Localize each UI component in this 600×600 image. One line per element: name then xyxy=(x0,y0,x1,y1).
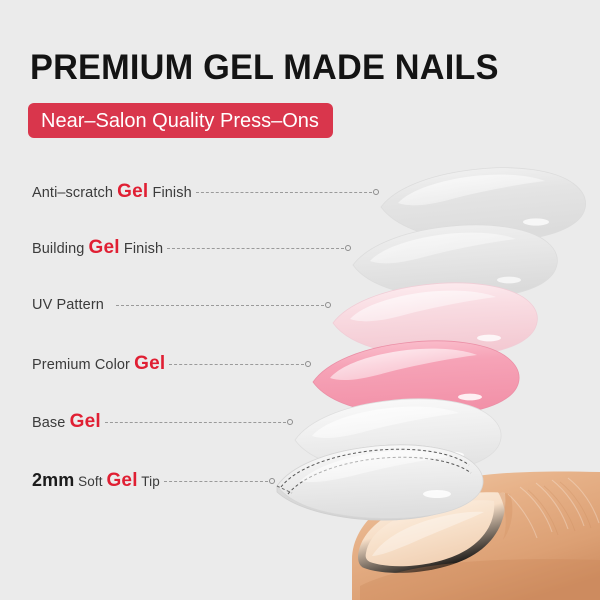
layer-label-text: Base Gel xyxy=(32,411,101,433)
layer-label-building-gel-finish: Building Gel Finish xyxy=(32,236,163,260)
leader-endpoint-circle xyxy=(373,189,379,195)
layer-label-text: Premium Color Gel xyxy=(32,353,165,375)
fingertip-illustration xyxy=(352,471,600,600)
layer-label-uv-pattern: UV Pattern xyxy=(32,293,104,317)
subtitle-badge-label: Near–Salon Quality Press–Ons xyxy=(41,111,319,131)
leader-line-anti-scratch-gel-finish xyxy=(196,186,379,198)
layer-shape-premium-color-gel xyxy=(313,341,519,416)
leader-line-soft-gel-tip xyxy=(164,475,275,487)
leader-line-uv-pattern xyxy=(116,299,331,311)
leader-dash xyxy=(196,192,372,193)
leader-line-building-gel-finish xyxy=(167,242,351,254)
leader-endpoint-circle xyxy=(269,478,275,484)
leader-line-base-gel xyxy=(105,416,293,428)
leader-dash xyxy=(164,481,268,482)
layer-shape-building-gel-finish xyxy=(353,225,557,299)
layer-shape-base-gel xyxy=(295,399,501,474)
layer-label-anti-scratch-gel-finish: Anti–scratch Gel Finish xyxy=(32,180,192,204)
layer-label-base-gel: Base Gel xyxy=(32,410,101,434)
layer-label-text: Building Gel Finish xyxy=(32,237,163,259)
leader-line-premium-color-gel xyxy=(169,358,311,370)
leader-endpoint-circle xyxy=(345,245,351,251)
layer-shape-soft-gel-tip xyxy=(277,445,483,520)
leader-dash xyxy=(116,305,324,306)
layer-label-soft-gel-tip: 2mm Soft Gel Tip xyxy=(32,469,160,493)
layer-shape-uv-pattern xyxy=(333,283,537,357)
leader-endpoint-circle xyxy=(305,361,311,367)
product-infographic: PREMIUM GEL MADE NAILS Near–Salon Qualit… xyxy=(0,0,600,600)
layer-label-text: UV Pattern xyxy=(32,297,104,313)
leader-endpoint-circle xyxy=(287,419,293,425)
subtitle-badge: Near–Salon Quality Press–Ons xyxy=(28,103,333,138)
leader-dash xyxy=(167,248,344,249)
layer-shape-anti-scratch-gel-finish xyxy=(381,168,586,242)
leader-dash xyxy=(169,364,304,365)
layer-label-text: Anti–scratch Gel Finish xyxy=(32,181,192,203)
leader-dash xyxy=(105,422,286,423)
layer-label-text: 2mm Soft Gel Tip xyxy=(32,470,160,492)
leader-endpoint-circle xyxy=(325,302,331,308)
layer-label-premium-color-gel: Premium Color Gel xyxy=(32,352,165,376)
page-title: PREMIUM GEL MADE NAILS xyxy=(30,48,499,88)
